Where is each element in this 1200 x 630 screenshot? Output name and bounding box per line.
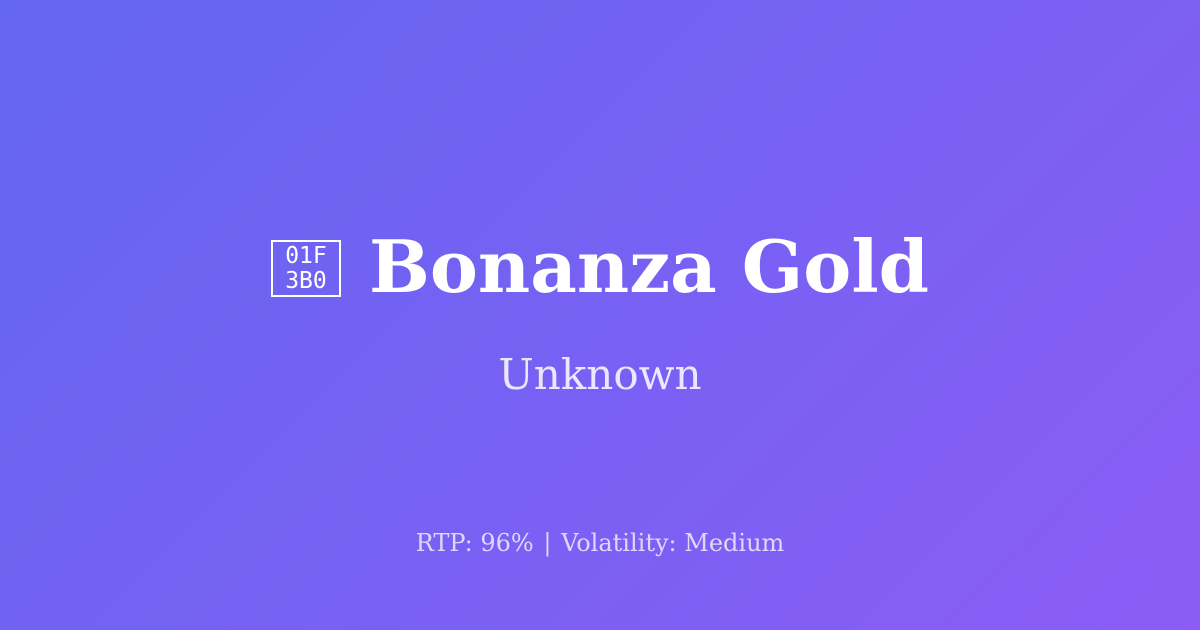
tofu-codepoint-low: 3B0: [285, 269, 327, 293]
tofu-codepoint-high: 01F: [285, 244, 327, 268]
rtp-value: 96%: [480, 529, 533, 557]
title-row: 01F 3B0 Bonanza Gold: [271, 228, 929, 306]
page-title: Bonanza Gold: [369, 228, 929, 306]
page-subtitle: Unknown: [498, 350, 701, 400]
game-stats-line: RTP: 96% | Volatility: Medium: [0, 528, 1200, 558]
slot-machine-icon: 01F 3B0: [271, 240, 341, 297]
volatility-value: Medium: [684, 529, 784, 557]
rtp-label: RTP:: [416, 529, 473, 557]
stats-separator: |: [541, 529, 553, 557]
og-hero-card: 01F 3B0 Bonanza Gold Unknown RTP: 96% | …: [0, 0, 1200, 630]
hero-content-block: 01F 3B0 Bonanza Gold Unknown: [0, 228, 1200, 400]
volatility-label: Volatility:: [561, 529, 677, 557]
